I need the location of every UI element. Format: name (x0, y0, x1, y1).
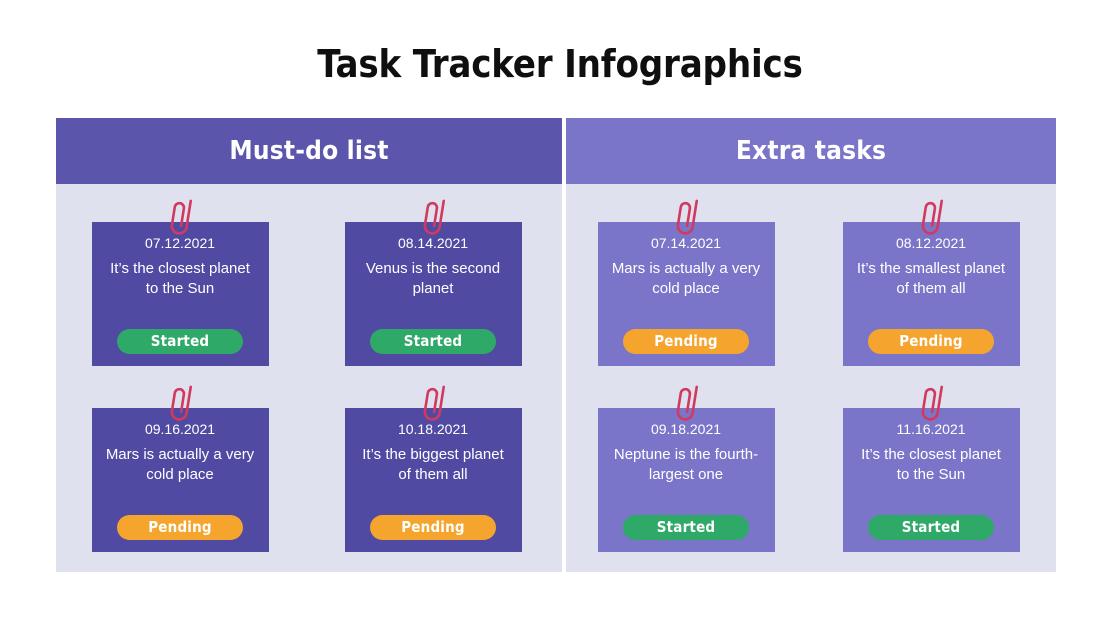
task-date: 07.12.2021 (145, 236, 215, 251)
task-card[interactable]: 07.12.2021It’s the closest planet to the… (92, 196, 274, 371)
status-badge[interactable]: Started (868, 515, 994, 540)
page-title: Task Tracker Infographics (0, 44, 1120, 86)
task-board: Must-do list 07.12.2021It’s the closest … (56, 118, 1056, 572)
task-card-body[interactable]: 07.14.2021Mars is actually a very cold p… (598, 222, 775, 366)
panel-extra-tasks: Extra tasks 07.14.2021Mars is actually a… (566, 118, 1056, 572)
task-card[interactable]: 08.12.2021It’s the smallest planet of th… (843, 196, 1025, 371)
task-date: 07.14.2021 (651, 236, 721, 251)
task-card-body[interactable]: 10.18.2021It’s the biggest planet of the… (345, 408, 522, 552)
panel-header-extra-tasks: Extra tasks (566, 118, 1056, 184)
task-date: 08.12.2021 (896, 236, 966, 251)
task-description: It’s the closest planet to the Sun (102, 259, 259, 299)
task-card[interactable]: 09.18.2021Neptune is the fourth-largest … (598, 382, 780, 557)
panel-body-must-do-list: 07.12.2021It’s the closest planet to the… (56, 184, 562, 572)
status-badge[interactable]: Started (370, 329, 496, 354)
task-card-body[interactable]: 09.18.2021Neptune is the fourth-largest … (598, 408, 775, 552)
task-date: 08.14.2021 (398, 236, 468, 251)
panel-must-do-list: Must-do list 07.12.2021It’s the closest … (56, 118, 562, 572)
task-card[interactable]: 07.14.2021Mars is actually a very cold p… (598, 196, 780, 371)
task-description: It’s the biggest planet of them all (355, 445, 512, 485)
task-card-body[interactable]: 11.16.2021It’s the closest planet to the… (843, 408, 1020, 552)
slide-root: Task Tracker Infographics Must-do list 0… (0, 0, 1120, 630)
status-badge[interactable]: Started (623, 515, 749, 540)
task-description: It’s the closest planet to the Sun (853, 445, 1010, 485)
task-description: Neptune is the fourth-largest one (608, 445, 765, 485)
task-description: Venus is the second planet (355, 259, 512, 299)
task-date: 11.16.2021 (896, 422, 965, 437)
status-badge[interactable]: Started (117, 329, 243, 354)
status-badge[interactable]: Pending (370, 515, 496, 540)
task-description: Mars is actually a very cold place (102, 445, 259, 485)
task-card-body[interactable]: 08.14.2021Venus is the second planetStar… (345, 222, 522, 366)
panel-header-must-do-list: Must-do list (56, 118, 562, 184)
status-badge[interactable]: Pending (868, 329, 994, 354)
task-date: 10.18.2021 (398, 422, 468, 437)
task-card-body[interactable]: 09.16.2021Mars is actually a very cold p… (92, 408, 269, 552)
panel-body-extra-tasks: 07.14.2021Mars is actually a very cold p… (566, 184, 1056, 572)
task-card[interactable]: 08.14.2021Venus is the second planetStar… (345, 196, 527, 371)
task-card[interactable]: 10.18.2021It’s the biggest planet of the… (345, 382, 527, 557)
task-card[interactable]: 11.16.2021It’s the closest planet to the… (843, 382, 1025, 557)
task-card[interactable]: 09.16.2021Mars is actually a very cold p… (92, 382, 274, 557)
task-card-body[interactable]: 08.12.2021It’s the smallest planet of th… (843, 222, 1020, 366)
status-badge[interactable]: Pending (623, 329, 749, 354)
task-description: Mars is actually a very cold place (608, 259, 765, 299)
task-card-body[interactable]: 07.12.2021It’s the closest planet to the… (92, 222, 269, 366)
task-description: It’s the smallest planet of them all (853, 259, 1010, 299)
task-date: 09.18.2021 (651, 422, 721, 437)
status-badge[interactable]: Pending (117, 515, 243, 540)
task-date: 09.16.2021 (145, 422, 215, 437)
